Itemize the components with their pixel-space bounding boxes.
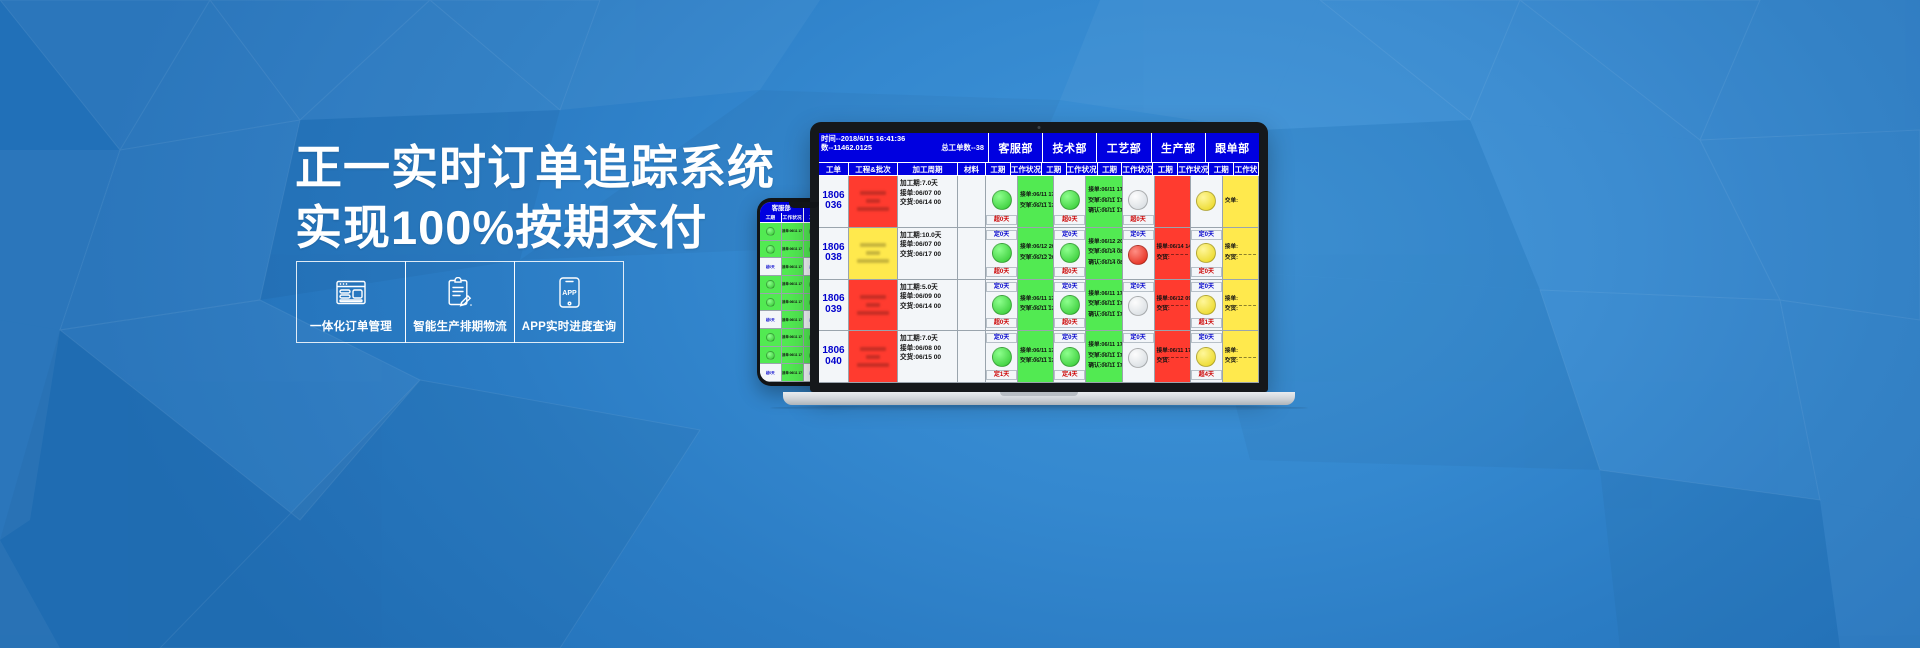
cycle-line-1: 接单:06/07 00: [900, 240, 955, 250]
status-note-1: 交单:06/14 08: [1088, 248, 1119, 257]
erp-column-2: 加工周期: [898, 163, 958, 175]
status-note-0: 交单:: [1225, 198, 1256, 206]
term-tag-bottom: 超0天: [1054, 215, 1085, 225]
status-dot-yellow: [1196, 295, 1216, 315]
work-status-cell: [1155, 176, 1191, 227]
status-dot-green: [992, 295, 1012, 315]
phone-tag: 超0天: [766, 264, 775, 269]
status-dot-yellow: [1196, 243, 1216, 263]
processing-cycle-cell: 加工期:10.0天接单:06/07 00交货:06/17 00: [898, 228, 958, 279]
cycle-line-0: 加工期:7.0天: [900, 334, 955, 344]
phone-column-0: 超0天超0天超0天: [760, 223, 782, 382]
status-dot-green: [992, 190, 1012, 210]
status-dot-green: [1060, 295, 1080, 315]
phone-cell: 接单:06/11 17: [782, 311, 803, 329]
status-note-0: 接单:06/12 09: [1157, 296, 1188, 304]
term-tag-top: 定0天: [1054, 282, 1085, 292]
phone-cell: 接单:06/11 17: [782, 223, 803, 241]
term-tag-bottom: 超0天: [1054, 318, 1085, 328]
term-tag-top: 定0天: [1123, 230, 1154, 240]
erp-column-6: 工期: [1042, 163, 1067, 175]
webcam-icon: [1038, 126, 1041, 129]
work-order-bottom: 036: [825, 201, 842, 212]
status-note-1: 交货:: [1225, 254, 1256, 263]
term-cell: [1191, 176, 1223, 227]
term-tag-top: 定0天: [1054, 230, 1085, 240]
work-status-cell: 接单:交货:: [1223, 331, 1259, 382]
term-cell: 定0天超1天: [1191, 280, 1223, 331]
erp-table-body: 1806036加工期:7.0天接单:06/07 00交货:06/14 00超0天…: [819, 176, 1259, 383]
phone-status-dot: [766, 227, 775, 236]
work-status-cell: 接单:06/11 17交单:06/11 17确认:06/11 17: [1086, 176, 1122, 227]
clipboard-pen-icon: [447, 275, 473, 309]
project-batch-cell: [849, 280, 898, 331]
phone-note: 接单:06/11 17: [782, 353, 802, 357]
status-note-1: 交单:06/11 17: [1088, 300, 1119, 309]
work-status-cell: 接单:06/11 17交单:06/11 17确认:06/11 17: [1086, 280, 1122, 331]
erp-row[interactable]: 1806039加工期:5.0天接单:06/09 00交货:06/14 00定0天…: [819, 280, 1259, 332]
work-status-cell: 交单:: [1223, 176, 1259, 227]
term-tag-top: 定0天: [1191, 333, 1222, 343]
feature-card-production-scheduling[interactable]: 智能生产排期物流: [405, 261, 515, 343]
term-tag-bottom: 定1天: [986, 370, 1017, 380]
phone-cell: 接单:06/11 17: [782, 276, 803, 294]
term-cell: 定0天: [1123, 228, 1155, 279]
phone-cell: 接单:06/11 17: [782, 329, 803, 347]
processing-cycle-cell: 加工期:7.0天接单:06/08 00交货:06/15 00: [898, 331, 958, 382]
erp-column-0: 工单: [819, 163, 849, 175]
term-cell: 定0天超0天: [1054, 280, 1086, 331]
phone-tag: 超0天: [766, 317, 775, 322]
status-note-2: 确认:06/11 17: [1088, 362, 1119, 371]
status-note-1: 交单:06/11 17: [1020, 202, 1051, 211]
status-note-0: 接单:06/12 20: [1020, 244, 1051, 252]
phone-column-1: 接单:06/11 17接单:06/11 17接单:06/11 17接单:06/1…: [782, 223, 804, 382]
material-cell: [958, 331, 986, 382]
status-note-1: 交单:06/12 20: [1020, 254, 1051, 263]
dept-header-merchandising: 跟单部: [1206, 133, 1259, 162]
phone-cell: 接单:06/11 17: [782, 347, 803, 365]
erp-row[interactable]: 1806038加工期:10.0天接单:06/07 00交货:06/17 00定0…: [819, 228, 1259, 280]
erp-column-9: 工作状况: [1122, 163, 1153, 175]
cycle-line-2: 交货:06/15 00: [900, 353, 955, 363]
feature-card-order-management[interactable]: 一体化订单管理: [296, 261, 406, 343]
work-order-bottom: 040: [825, 357, 842, 368]
term-tag-bottom: 超0天: [986, 318, 1017, 328]
phone-note: 接单:06/11 17: [782, 229, 802, 233]
work-status-cell: 接单:06/14 14交货:: [1155, 228, 1191, 279]
status-note-1: 交货:: [1157, 254, 1188, 263]
phone-cell: 接单:06/11 17: [782, 364, 803, 382]
status-dot-green: [992, 243, 1012, 263]
term-tag-bottom: 定4天: [1054, 370, 1085, 380]
phone-notch: [789, 202, 819, 208]
cycle-line-0: 加工期:7.0天: [900, 179, 955, 189]
phone-note: 接单:06/11 17: [782, 335, 802, 339]
phone-status-dot: [766, 351, 775, 360]
work-order-cell: 1806038: [819, 228, 849, 279]
status-dot-red: [1128, 245, 1148, 265]
erp-column-12: 工期: [1209, 163, 1234, 175]
term-tag-top: 定0天: [986, 282, 1017, 292]
phone-note: 接单:06/11 17: [782, 265, 802, 269]
erp-header-bar: 时间--2018/6/15 16:41:36 数--11462.0125 总工单…: [819, 133, 1259, 163]
cycle-line-1: 接单:06/09 00: [900, 292, 955, 302]
work-order-cell: 1806040: [819, 331, 849, 382]
material-cell: [958, 228, 986, 279]
phone-tag: 超0天: [766, 370, 775, 375]
erp-time-label: 时间--2018/6/15 16:41:36: [821, 134, 907, 143]
phone-cell: [760, 347, 781, 365]
cycle-line-2: 交货:06/17 00: [900, 250, 955, 260]
term-tag-top: 定0天: [986, 230, 1017, 240]
cycle-line-2: 交货:06/14 00: [900, 198, 955, 208]
status-note-2: 确认:06/11 17: [1088, 311, 1119, 320]
term-cell: 定0天定0天: [1191, 228, 1223, 279]
term-cell: 定0天超0天: [1054, 228, 1086, 279]
work-order-cell: 1806036: [819, 176, 849, 227]
project-batch-cell: [849, 331, 898, 382]
work-order-bottom: 038: [825, 253, 842, 264]
material-cell: [958, 280, 986, 331]
phone-cell: 接单:06/11 17: [782, 294, 803, 312]
phone-cell: [760, 276, 781, 294]
feature-label: 智能生产排期物流: [413, 318, 507, 334]
term-tag-bottom: 超0天: [986, 215, 1017, 225]
svg-text:APP: APP: [562, 290, 577, 297]
cycle-line-2: 交货:06/14 00: [900, 302, 955, 312]
work-status-cell: 接单:06/12 20交单:06/12 20: [1018, 228, 1054, 279]
term-cell: 定0天: [1123, 280, 1155, 331]
phone-cell: 超0天: [760, 364, 781, 382]
status-note-1: 交单:06/11 17: [1020, 305, 1051, 314]
status-note-0: 接单:06/11 17: [1020, 348, 1051, 356]
work-status-cell: 接单:交货:: [1223, 280, 1259, 331]
phone-status-dot: [766, 333, 775, 342]
laptop-device: 时间--2018/6/15 16:41:36 数--11462.0125 总工单…: [810, 122, 1308, 411]
term-tag-bottom: 超0天: [986, 267, 1017, 277]
cycle-line-0: 加工期:10.0天: [900, 231, 955, 241]
status-note-1: 交货:: [1225, 357, 1256, 366]
phone-cell: 超0天: [760, 311, 781, 329]
phone-cell: 接单:06/11 17: [782, 258, 803, 276]
work-status-cell: 接单:06/12 09交货:: [1155, 280, 1191, 331]
erp-column-5: 工作状况: [1011, 163, 1042, 175]
dept-header-customer-service: 客服部: [989, 133, 1043, 162]
term-cell: 超0天: [1123, 176, 1155, 227]
term-cell: 定0天超0天: [986, 280, 1018, 331]
status-note-1: 交货:: [1157, 357, 1188, 366]
erp-column-4: 工期: [986, 163, 1011, 175]
term-tag-top: 定0天: [1123, 282, 1154, 292]
phone-note: 接单:06/11 17: [782, 247, 802, 251]
status-dot-green: [1060, 347, 1080, 367]
status-note-2: 确认:06/11 17: [1088, 207, 1119, 216]
phone-status-dot: [766, 298, 775, 307]
erp-column-3: 材料: [958, 163, 986, 175]
work-status-cell: 接单:06/11 17交单:06/11 17: [1018, 176, 1054, 227]
status-note-1: 交货:: [1157, 305, 1188, 314]
term-tag-top: 定0天: [1123, 333, 1154, 343]
work-status-cell: 接单:06/11 17交货:: [1155, 331, 1191, 382]
status-note-1: 交货:: [1225, 305, 1256, 314]
phone-cell: 接单:06/11 17: [782, 241, 803, 259]
processing-cycle-cell: 加工期:7.0天接单:06/07 00交货:06/14 00: [898, 176, 958, 227]
phone-col-1: 工作状况: [782, 213, 804, 222]
work-status-cell: 接单:06/11 17交单:06/11 17确认:06/11 17: [1086, 331, 1122, 382]
term-tag-bottom: 超1天: [1191, 318, 1222, 328]
status-dot-yellow: [1196, 347, 1216, 367]
phone-note: 接单:06/11 17: [782, 318, 802, 322]
term-tag-top: 定0天: [1191, 230, 1222, 240]
status-note-0: 接单:06/11 17: [1020, 296, 1051, 304]
mobile-app-icon: APP: [559, 275, 580, 309]
phone-note: 接单:06/11 17: [782, 300, 802, 304]
cycle-line-0: 加工期:5.0天: [900, 283, 955, 293]
term-cell: 定0天超4天: [1191, 331, 1223, 382]
term-cell: 定0天定4天: [1054, 331, 1086, 382]
cycle-line-1: 接单:06/07 00: [900, 189, 955, 199]
work-status-cell: 接单:交货:: [1223, 228, 1259, 279]
status-note-0: 接单:06/12 20: [1088, 239, 1119, 247]
erp-total-label: 总工单数--38: [941, 143, 986, 152]
phone-cell: 超0天: [760, 258, 781, 276]
erp-column-13: 工作状: [1234, 163, 1259, 175]
erp-column-10: 工期: [1153, 163, 1178, 175]
erp-code-label: 数--11462.0125: [821, 143, 872, 152]
phone-note: 接单:06/11 17: [782, 282, 802, 286]
erp-column-11: 工作状况: [1178, 163, 1209, 175]
status-note-0: 接单:06/11 17: [1088, 291, 1119, 299]
status-dot-yellow: [1196, 191, 1216, 211]
dept-header-technology: 技术部: [1043, 133, 1097, 162]
erp-meta-block: 时间--2018/6/15 16:41:36 数--11462.0125 总工单…: [819, 133, 989, 162]
phone-status-dot: [766, 245, 775, 254]
dept-header-process: 工艺部: [1097, 133, 1151, 162]
laptop-lid: 时间--2018/6/15 16:41:36 数--11462.0125 总工单…: [810, 122, 1268, 392]
term-tag-bottom: 超0天: [1054, 267, 1085, 277]
work-order-cell: 1806039: [819, 280, 849, 331]
status-note-0: 接单:06/11 17: [1157, 348, 1188, 356]
laptop-shadow: [770, 405, 1308, 411]
status-note-0: 接单:: [1225, 348, 1256, 356]
feature-label: APP实时进度查询: [522, 318, 616, 334]
cycle-line-1: 接单:06/08 00: [900, 344, 955, 354]
work-status-cell: 接单:06/12 20交单:06/14 08确认:06/14 08: [1086, 228, 1122, 279]
processing-cycle-cell: 加工期:5.0天接单:06/09 00交货:06/14 00: [898, 280, 958, 331]
status-dot-grey: [1128, 190, 1148, 210]
erp-row[interactable]: 1806036加工期:7.0天接单:06/07 00交货:06/14 00超0天…: [819, 176, 1259, 228]
laptop-base: [783, 392, 1295, 405]
project-batch-cell: [849, 228, 898, 279]
phone-status-dot: [766, 280, 775, 289]
status-dot-green: [1060, 243, 1080, 263]
phone-cell: [760, 241, 781, 259]
erp-column-8: 工期: [1098, 163, 1123, 175]
term-tag-top: 定0天: [986, 333, 1017, 343]
laptop-screen[interactable]: 时间--2018/6/15 16:41:36 数--11462.0125 总工单…: [819, 133, 1259, 383]
phone-cell: [760, 294, 781, 312]
status-note-1: 交单:06/11 17: [1088, 197, 1119, 206]
status-dot-grey: [1128, 348, 1148, 368]
status-note-0: 接单:06/11 17: [1020, 192, 1051, 200]
feature-label: 一体化订单管理: [310, 318, 392, 334]
term-cell: 定0天定1天: [986, 331, 1018, 382]
term-cell: 定0天: [1123, 331, 1155, 382]
term-cell: 超0天: [1054, 176, 1086, 227]
term-cell: 超0天: [986, 176, 1018, 227]
feature-list: 一体化订单管理 智能生产排期物流 APP APP实时进度查询: [296, 261, 623, 343]
status-dot-green: [992, 347, 1012, 367]
status-note-1: 交单:06/11 17: [1020, 357, 1051, 366]
phone-cell: [760, 329, 781, 347]
status-note-0: 接单:: [1225, 244, 1256, 252]
term-tag-bottom: 超4天: [1191, 370, 1222, 380]
feature-card-app-progress[interactable]: APP APP实时进度查询: [514, 261, 624, 343]
erp-row[interactable]: 1806040加工期:7.0天接单:06/08 00交货:06/15 00定0天…: [819, 331, 1259, 383]
status-note-0: 接单:06/14 14: [1157, 244, 1188, 252]
status-note-0: 接单:06/11 17: [1088, 342, 1119, 350]
phone-cell: [760, 223, 781, 241]
erp-column-header-row: 工单工程&批次加工周期材料工期工作状况工期工作状况工期工作状况工期工作状况工期工…: [819, 163, 1259, 176]
phone-col-0: 工期: [760, 213, 782, 222]
term-tag-top: 定0天: [1054, 333, 1085, 343]
status-note-0: 接单:: [1225, 296, 1256, 304]
window-layout-icon: [336, 275, 366, 309]
status-note-0: 接单:06/11 17: [1088, 187, 1119, 195]
status-note-1: 交单:06/11 17: [1088, 352, 1119, 361]
project-batch-cell: [849, 176, 898, 227]
term-tag-bottom: 定0天: [1191, 267, 1222, 277]
status-note-2: 确认:06/14 08: [1088, 259, 1119, 268]
material-cell: [958, 176, 986, 227]
dept-header-production: 生产部: [1152, 133, 1206, 162]
erp-dashboard: 时间--2018/6/15 16:41:36 数--11462.0125 总工单…: [819, 133, 1259, 383]
status-dot-grey: [1128, 296, 1148, 316]
erp-column-1: 工程&批次: [849, 163, 898, 175]
erp-column-7: 工作状况: [1067, 163, 1098, 175]
work-order-bottom: 039: [825, 305, 842, 316]
term-tag-top: 定0天: [1191, 282, 1222, 292]
work-status-cell: 接单:06/11 17交单:06/11 17: [1018, 331, 1054, 382]
term-cell: 定0天超0天: [986, 228, 1018, 279]
term-tag-bottom: 超0天: [1123, 215, 1154, 225]
work-status-cell: 接单:06/11 17交单:06/11 17: [1018, 280, 1054, 331]
status-dot-green: [1060, 190, 1080, 210]
phone-note: 接单:06/11 17: [782, 371, 802, 375]
